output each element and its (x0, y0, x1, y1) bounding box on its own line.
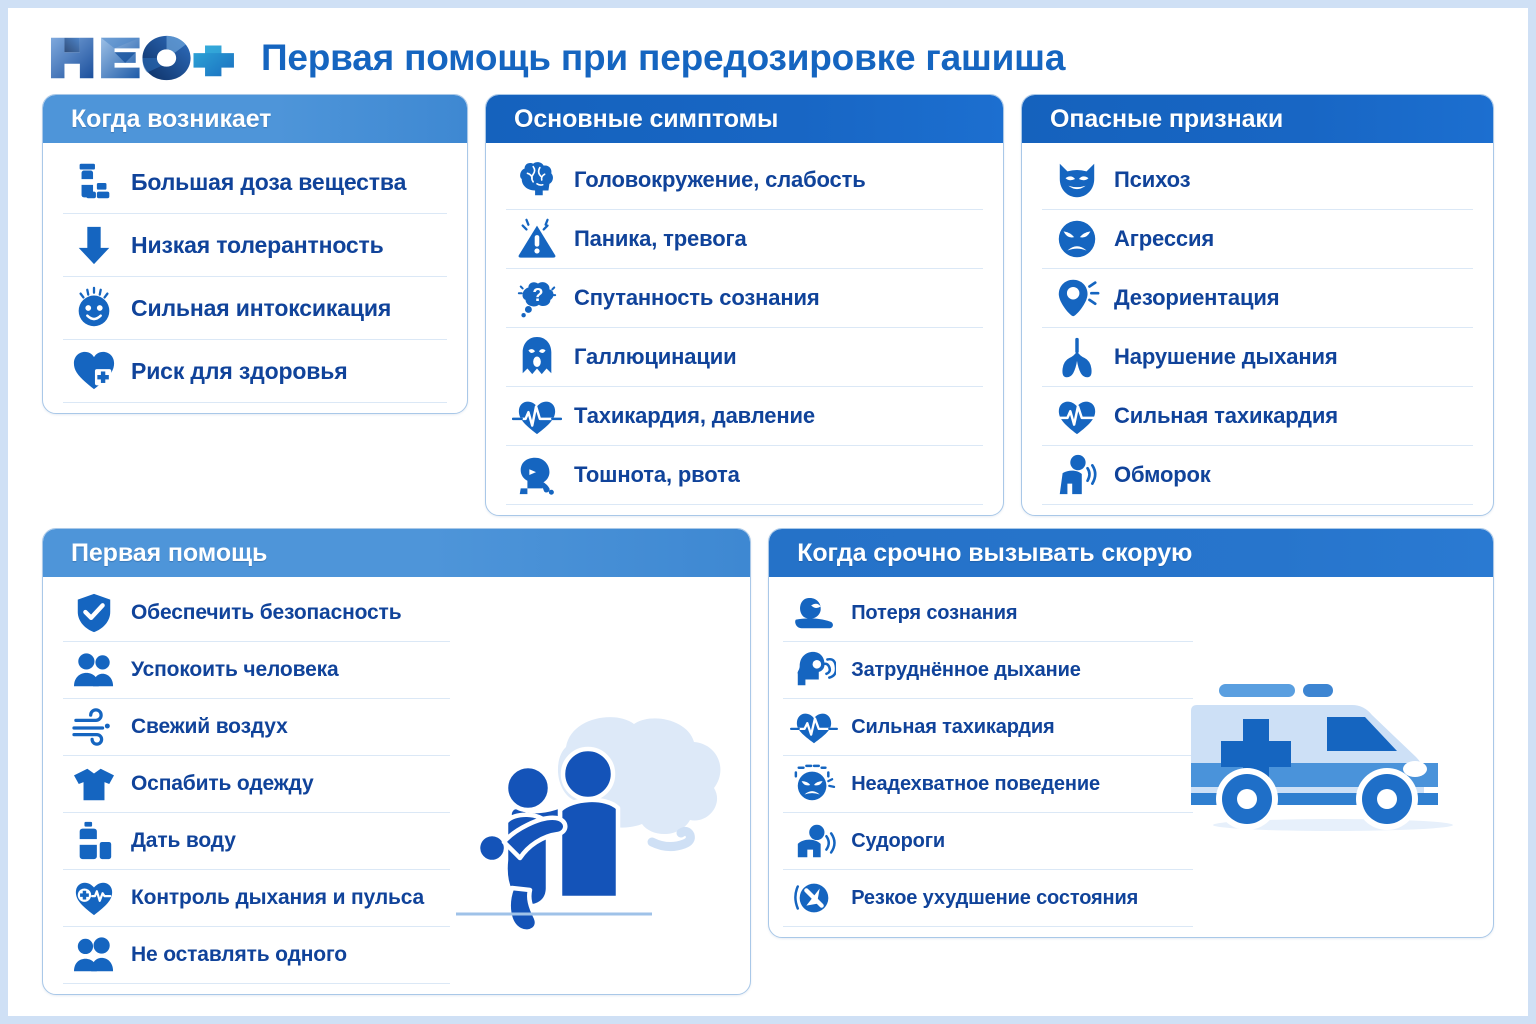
list-item[interactable]: Большая доза вещества (63, 151, 447, 214)
item-label: Нарушение дыхания (1114, 344, 1338, 370)
item-label: Сильная тахикардия (1114, 403, 1338, 429)
card-header: Когда срочно вызывать скорую (769, 529, 1493, 577)
card-title: Опасные признаки (1050, 105, 1283, 134)
dizzy-face-icon (69, 283, 119, 333)
thought-question-icon: ? (512, 273, 562, 323)
shield-check-icon (69, 588, 119, 638)
item-label: Агрессия (1114, 226, 1214, 252)
list-item[interactable]: Психоз (1042, 151, 1473, 210)
fainting-person-icon (1052, 450, 1102, 500)
list-item[interactable]: Затруднённое дыхание (783, 642, 1193, 699)
lungs-icon (1052, 332, 1102, 382)
warning-triangle-icon (512, 214, 562, 264)
card-main-symptoms: Основные симптомы Головокружение, слабос… (485, 94, 1004, 516)
list-item[interactable]: Тахикардия, давление (506, 387, 983, 446)
declining-arrow-icon (789, 873, 839, 923)
item-label: Паника, тревога (574, 226, 747, 252)
item-label: Контроль дыхания и пульса (131, 886, 424, 910)
item-label: Потеря сознания (851, 602, 1017, 625)
wind-icon (69, 702, 119, 752)
item-label: Спутанность сознания (574, 285, 820, 311)
card-header: Первая помощь (43, 529, 750, 577)
item-label: Обморок (1114, 462, 1211, 488)
convulsions-person-icon (789, 816, 839, 866)
list-item[interactable]: Контроль дыхания и пульса (63, 870, 450, 927)
infographic-page: Первая помощь при передозировке гашиша К… (8, 8, 1528, 1016)
list-item[interactable]: Сильная тахикардия (783, 699, 1193, 756)
list-item[interactable]: Низкая толерантность (63, 214, 447, 277)
item-label: Оспабить одежду (131, 772, 313, 796)
item-label: Дезориентация (1114, 285, 1279, 311)
list-item[interactable]: Не оставлять одного (63, 927, 450, 984)
ghost-icon (512, 332, 562, 382)
item-label: Низкая толерантность (131, 232, 384, 259)
item-label: Психоз (1114, 167, 1190, 193)
item-label: Затруднённое дыхание (851, 659, 1081, 682)
pill-bottle-icon (69, 157, 119, 207)
list-item[interactable]: Обморок (1042, 446, 1473, 505)
item-label: Свежий воздух (131, 715, 288, 739)
list-item[interactable]: Сильная интоксикация (63, 277, 447, 340)
tshirt-icon (69, 759, 119, 809)
item-label: Дать воду (131, 829, 236, 853)
heart-cross-icon (69, 346, 119, 396)
page-title: Первая помощь при передозировке гашиша (261, 37, 1065, 79)
card-body: Потеря сознания Затруднённое дыхание (769, 577, 1493, 937)
list-item[interactable]: Сильная тахикардия (1042, 387, 1473, 446)
card-body: Головокружение, слабость Паника, тревога (486, 143, 1003, 515)
location-pin-icon (1052, 273, 1102, 323)
list-item[interactable]: ? Спутанность сознания (506, 269, 983, 328)
list-item[interactable]: Тошнота, рвота (506, 446, 983, 505)
card-header: Основные симптомы (486, 95, 1003, 143)
list-item[interactable]: Неадехватное поведение (783, 756, 1193, 813)
card-title: Основные симптомы (514, 105, 778, 134)
item-label: Резкое ухудшение состояния (851, 887, 1138, 910)
card-header: Когда возникает (43, 95, 467, 143)
list-item[interactable]: Потеря сознания (783, 585, 1193, 642)
item-label: Обеспечить безопасность (131, 601, 401, 625)
heart-pulse-icon (512, 391, 562, 441)
list-item[interactable]: Свежий воздух (63, 699, 450, 756)
card-danger-signs: Опасные признаки Психоз (1021, 94, 1494, 516)
item-label: Тошнота, рвота (574, 462, 740, 488)
list-item[interactable]: Дать воду (63, 813, 450, 870)
item-label: Неадехватное поведение (851, 773, 1100, 796)
vomiting-head-icon (512, 450, 562, 500)
heart-pulse-icon (789, 702, 839, 752)
list-item[interactable]: Резкое ухудшение состояния (783, 870, 1193, 927)
water-bottle-icon (69, 816, 119, 866)
list-item[interactable]: Риск для здоровья (63, 340, 447, 403)
card-body: Психоз Агрессия (1022, 143, 1493, 515)
heart-pulse-icon (1052, 391, 1102, 441)
item-label: Сильная тахикардия (851, 716, 1054, 739)
list-item[interactable]: Обеспечить безопасность (63, 585, 450, 642)
item-label: Большая доза вещества (131, 169, 406, 196)
heart-cross-pulse-icon (69, 873, 119, 923)
card-call-ambulance: Когда срочно вызывать скорую Потеря созн… (768, 528, 1494, 938)
card-title: Когда возникает (71, 105, 271, 134)
list-item[interactable]: Нарушение дыхания (1042, 328, 1473, 387)
two-people-icon (69, 930, 119, 980)
card-header: Опасные признаки (1022, 95, 1493, 143)
item-label: Не оставлять одного (131, 943, 347, 967)
evil-mask-icon (1052, 155, 1102, 205)
list-item[interactable]: Дезориентация (1042, 269, 1473, 328)
card-first-aid: Первая помощь Обеспечить безопасность (42, 528, 751, 995)
list-item[interactable]: Судороги (783, 813, 1193, 870)
list-item[interactable]: Головокружение, слабость (506, 151, 983, 210)
list-item[interactable]: Успокоить человека (63, 642, 450, 699)
angry-face-icon (1052, 214, 1102, 264)
list-item[interactable]: Оспабить одежду (63, 756, 450, 813)
item-label: Головокружение, слабость (574, 167, 866, 193)
item-label: Тахикардия, давление (574, 403, 815, 429)
two-people-icon (69, 645, 119, 695)
item-label: Риск для здоровья (131, 358, 348, 385)
item-label: Успокоить человека (131, 658, 339, 682)
down-arrow-icon (69, 220, 119, 270)
item-label: Галлюцинации (574, 344, 737, 370)
list-item[interactable]: Галлюцинации (506, 328, 983, 387)
card-when-occurs: Когда возникает Большая доза (42, 94, 468, 414)
bottom-card-row: Первая помощь Обеспечить безопасность (28, 516, 1508, 995)
list-item[interactable]: Паника, тревога (506, 210, 983, 269)
page-header: Первая помощь при передозировке гашиша (28, 22, 1508, 94)
top-card-row: Когда возникает Большая доза (28, 94, 1508, 516)
card-title: Первая помощь (71, 539, 267, 568)
item-label: Сильная интоксикация (131, 295, 391, 322)
card-body: Обеспечить безопасность Успокоить челове… (43, 577, 750, 994)
neo-plus-logo (44, 32, 239, 84)
svg-text:?: ? (532, 285, 543, 305)
angry-dizzy-face-icon (789, 759, 839, 809)
brain-icon (512, 155, 562, 205)
card-title: Когда срочно вызывать скорую (797, 539, 1192, 568)
unconscious-person-icon (789, 588, 839, 638)
card-body: Большая доза вещества Низкая толерантнос… (43, 143, 467, 413)
item-label: Судороги (851, 830, 945, 853)
list-item[interactable]: Агрессия (1042, 210, 1473, 269)
breathing-head-icon (789, 645, 839, 695)
